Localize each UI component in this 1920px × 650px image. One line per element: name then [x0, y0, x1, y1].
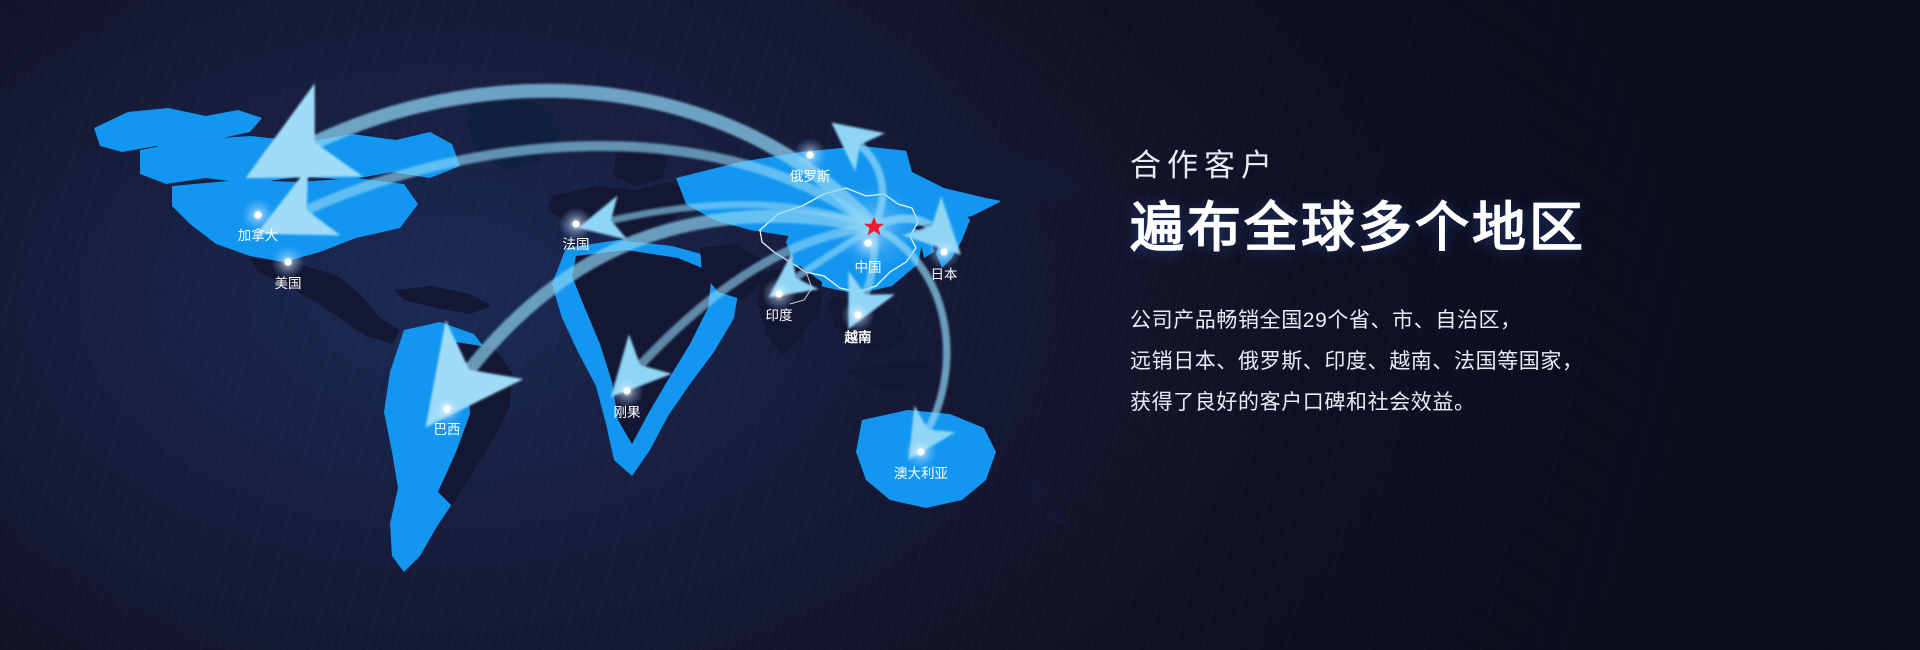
- global-clients-banner: 加拿大美国巴西法国刚果俄罗斯印度中国日本越南澳大利亚 合作客户 遍布全球多个地区…: [0, 0, 1920, 650]
- map-label-russia: 俄罗斯: [790, 169, 831, 185]
- map-label-usa: 美国: [275, 276, 302, 292]
- marker-dot-icon: [443, 405, 450, 412]
- marker-dot-icon: [284, 258, 291, 265]
- map-marker-brazil[interactable]: 巴西: [430, 392, 464, 438]
- map-label-congo: 刚果: [614, 405, 642, 421]
- map-marker-japan[interactable]: 日本: [927, 235, 961, 283]
- land-caribbean: [394, 286, 492, 314]
- map-marker-vietnam[interactable]: 越南: [841, 298, 875, 346]
- map-marker-congo[interactable]: 刚果: [610, 374, 644, 421]
- marker-dot-icon: [864, 239, 871, 246]
- map-label-vietnam: 越南: [844, 329, 872, 346]
- map-label-australia: 澳大利亚: [894, 466, 948, 482]
- world-map-svg: 加拿大美国巴西法国刚果俄罗斯印度中国日本越南澳大利亚: [0, 0, 1160, 650]
- map-marker-france[interactable]: 法国: [559, 207, 593, 253]
- map-label-france: 法国: [563, 237, 590, 253]
- landmass-group: [94, 96, 1086, 572]
- map-marker-india[interactable]: 印度: [762, 277, 796, 324]
- body-line: 获得了良好的客户口碑和社会效益。: [1130, 383, 1870, 424]
- body-paragraph: 公司产品畅销全国29个省、市、自治区，远销日本、俄罗斯、印度、越南、法国等国家，…: [1130, 301, 1870, 424]
- world-map-illustration: 加拿大美国巴西法国刚果俄罗斯印度中国日本越南澳大利亚: [0, 0, 1160, 650]
- map-label-india: 印度: [766, 308, 793, 324]
- map-label-japan: 日本: [931, 267, 959, 283]
- marker-dot-icon: [775, 290, 782, 297]
- land-indonesia: [846, 362, 992, 398]
- map-label-brazil: 巴西: [434, 422, 461, 438]
- map-label-canada: 加拿大: [238, 227, 279, 244]
- marker-dot-icon: [940, 248, 947, 255]
- main-headline: 遍布全球多个地区: [1130, 199, 1870, 257]
- land-mexico: [250, 258, 400, 344]
- marker-dot-icon: [917, 448, 924, 455]
- marker-dot-icon: [854, 311, 861, 318]
- marker-dot-icon: [254, 211, 261, 218]
- eyebrow-title: 合作客户: [1130, 150, 1870, 181]
- map-marker-russia[interactable]: 俄罗斯: [790, 138, 831, 185]
- body-line: 公司产品畅销全国29个省、市、自治区，: [1130, 301, 1870, 342]
- map-label-china: 中国: [855, 260, 882, 276]
- marker-dot-icon: [806, 151, 813, 158]
- land-newzealand: [1024, 478, 1050, 510]
- marker-dot-icon: [572, 220, 579, 227]
- body-line: 远销日本、俄罗斯、印度、越南、法国等国家，: [1130, 342, 1870, 383]
- map-marker-usa[interactable]: 美国: [271, 245, 305, 292]
- marker-dot-icon: [623, 387, 630, 394]
- text-panel: 合作客户 遍布全球多个地区 公司产品畅销全国29个省、市、自治区，远销日本、俄罗…: [1130, 150, 1870, 424]
- land-nz-south: [1046, 506, 1066, 530]
